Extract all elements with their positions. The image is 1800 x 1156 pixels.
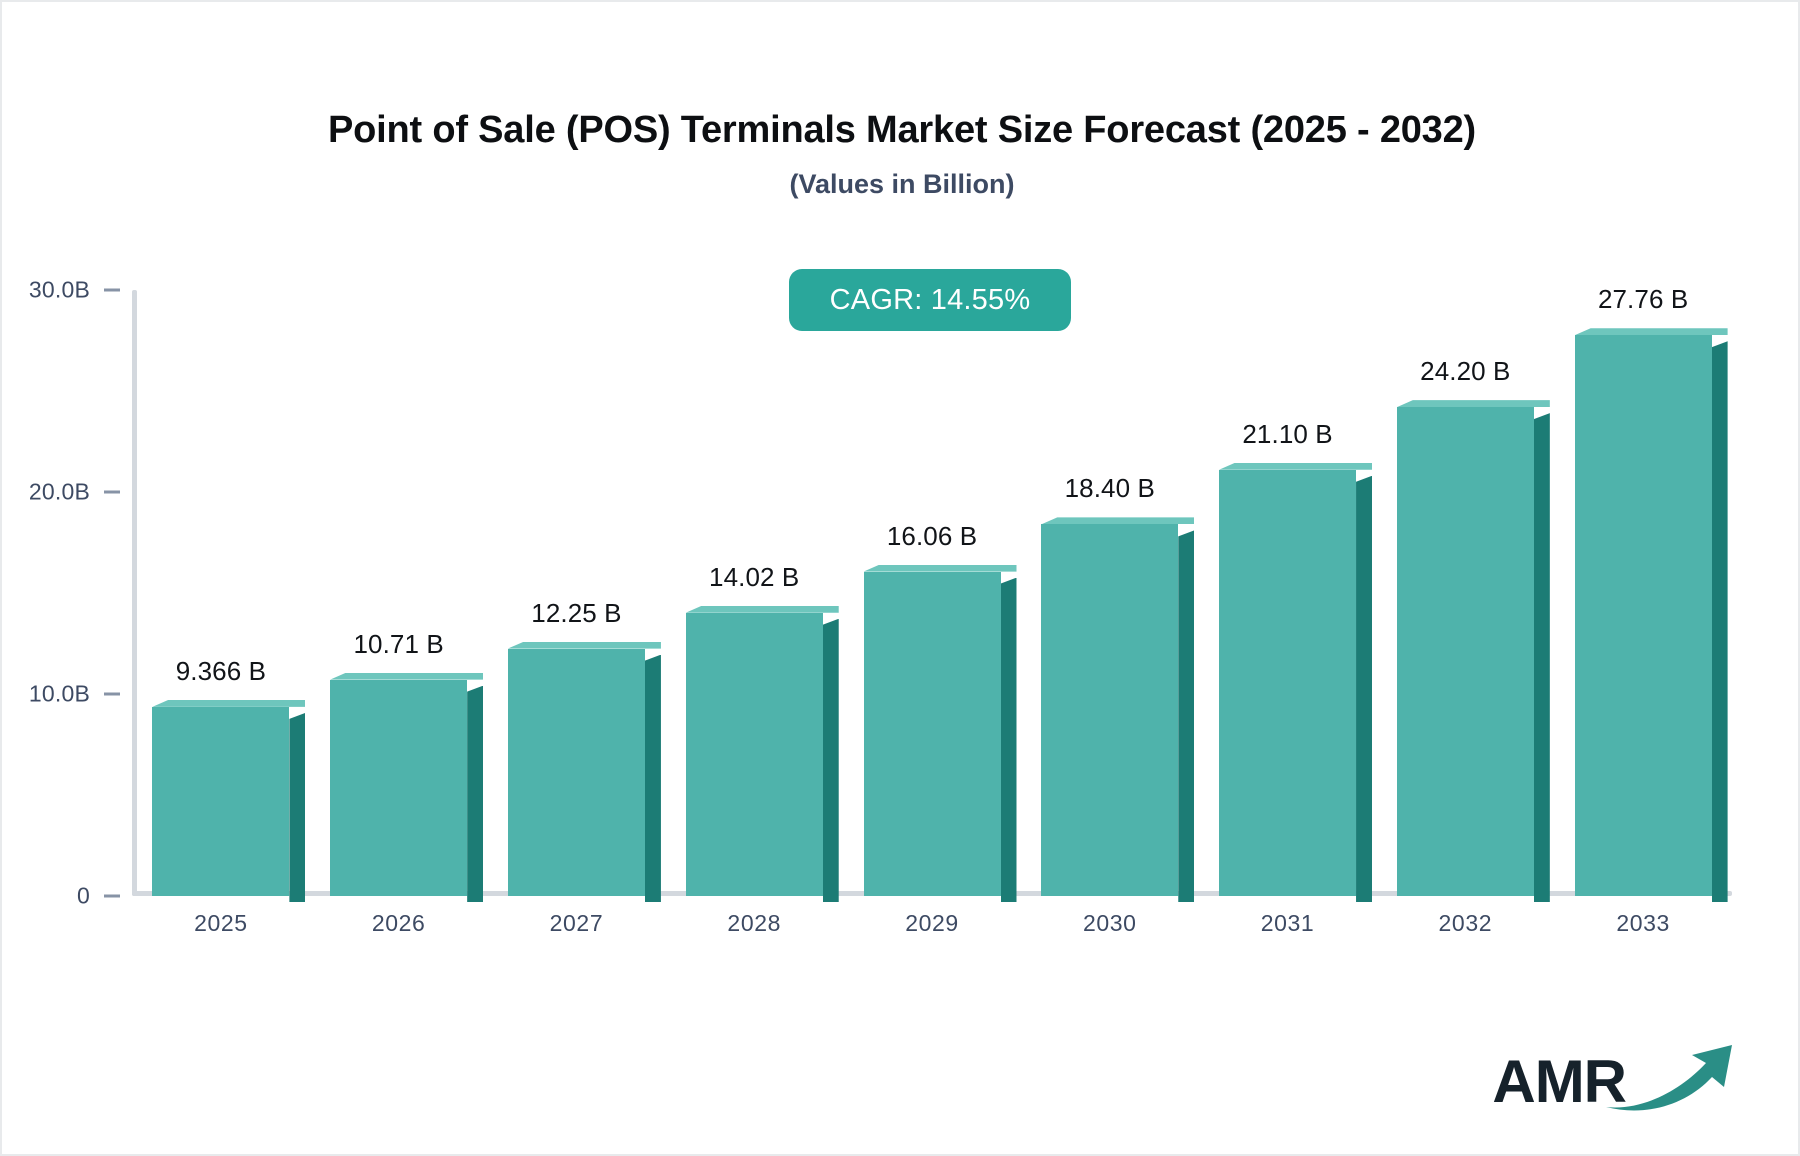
bar-column: 16.06 B — [864, 290, 1001, 896]
x-axis-labels: 202520262027202820292030203120322033 — [132, 910, 1732, 950]
y-axis-tick: 20.0B — [2, 479, 132, 506]
x-axis-tick-label: 2028 — [727, 910, 781, 937]
bar-side-face — [1001, 578, 1017, 902]
x-axis-tick-label: 2025 — [194, 910, 248, 937]
y-axis-tick: 10.0B — [2, 681, 132, 708]
bar-value-label: 14.02 B — [709, 562, 799, 593]
x-axis-tick-label: 2032 — [1439, 910, 1493, 937]
y-axis-tick-label: 10.0B — [29, 681, 90, 708]
bar — [508, 649, 645, 896]
bar-side-face — [1712, 341, 1728, 902]
bar-front-face — [686, 613, 823, 896]
bar-column: 18.40 B — [1041, 290, 1178, 896]
y-axis-tick-mark — [104, 491, 120, 494]
bar-side-face — [645, 655, 661, 902]
bar-column: 21.10 B — [1219, 290, 1356, 896]
bar-value-label: 24.20 B — [1420, 356, 1510, 387]
bar-column: 10.71 B — [330, 290, 467, 896]
bar — [864, 572, 1001, 896]
x-axis-tick-label: 2030 — [1083, 910, 1137, 937]
bar-series: 9.366 B10.71 B12.25 B14.02 B16.06 B18.40… — [132, 290, 1732, 896]
bar-top-face — [864, 565, 1017, 572]
bar-column: 24.20 B — [1397, 290, 1534, 896]
bar-value-label: 27.76 B — [1598, 284, 1688, 315]
bar-top-face — [508, 642, 661, 649]
chart-subtitle: (Values in Billion) — [2, 170, 1800, 200]
bar-front-face — [1575, 335, 1712, 896]
bar-front-face — [1041, 524, 1178, 896]
y-axis-tick-mark — [104, 693, 120, 696]
bar-column: 27.76 B — [1575, 290, 1712, 896]
y-axis-tick-label: 30.0B — [29, 277, 90, 304]
bar-value-label: 9.366 B — [176, 656, 266, 687]
chart-canvas: Point of Sale (POS) Terminals Market Siz… — [0, 0, 1800, 1156]
bar-value-label: 12.25 B — [531, 598, 621, 629]
bar-top-face — [152, 700, 305, 707]
bar-side-face — [1178, 530, 1194, 902]
x-axis-tick-label: 2027 — [550, 910, 604, 937]
bar-side-face — [467, 686, 483, 902]
y-axis-tick: 0 — [2, 883, 132, 910]
bar-column: 12.25 B — [508, 290, 645, 896]
y-axis-tick: 30.0B — [2, 277, 132, 304]
bar-front-face — [152, 707, 289, 896]
bar-front-face — [1219, 470, 1356, 896]
bar — [1219, 470, 1356, 896]
x-axis-tick-label: 2031 — [1261, 910, 1315, 937]
bar — [330, 680, 467, 896]
bar-value-label: 16.06 B — [887, 521, 977, 552]
x-axis-tick-label: 2026 — [372, 910, 426, 937]
bar-top-face — [1219, 463, 1372, 470]
bar-side-face — [289, 713, 305, 902]
growth-arrow-icon — [1600, 1041, 1740, 1118]
y-axis-tick-label: 20.0B — [29, 479, 90, 506]
bar-column: 9.366 B — [152, 290, 289, 896]
bar — [1397, 407, 1534, 896]
bar-value-label: 21.10 B — [1242, 419, 1332, 450]
bar-value-label: 10.71 B — [353, 629, 443, 660]
title-block: Point of Sale (POS) Terminals Market Siz… — [2, 110, 1800, 199]
plot-area: 9.366 B10.71 B12.25 B14.02 B16.06 B18.40… — [132, 290, 1732, 896]
x-axis-tick-label: 2033 — [1616, 910, 1670, 937]
bar-front-face — [330, 680, 467, 896]
bar-side-face — [1534, 413, 1550, 902]
bar — [1575, 335, 1712, 896]
bar-top-face — [1041, 517, 1194, 524]
bar-front-face — [508, 649, 645, 896]
bar — [1041, 524, 1178, 896]
y-axis-tick-mark — [104, 289, 120, 292]
bar-side-face — [1356, 476, 1372, 902]
bar-top-face — [686, 606, 839, 613]
bar-side-face — [823, 619, 839, 902]
bar-top-face — [330, 673, 483, 680]
page-title: Point of Sale (POS) Terminals Market Siz… — [2, 110, 1800, 152]
bar-front-face — [1397, 407, 1534, 896]
amr-logo: AMR — [1492, 1038, 1740, 1112]
y-axis-tick-mark — [104, 895, 120, 898]
bar-top-face — [1397, 400, 1550, 407]
bar-value-label: 18.40 B — [1065, 473, 1155, 504]
bar-column: 14.02 B — [686, 290, 823, 896]
bar-top-face — [1575, 328, 1728, 335]
y-axis-tick-label: 0 — [77, 883, 90, 910]
bar-front-face — [864, 572, 1001, 896]
bar — [152, 707, 289, 896]
x-axis-tick-label: 2029 — [905, 910, 959, 937]
bar — [686, 613, 823, 896]
